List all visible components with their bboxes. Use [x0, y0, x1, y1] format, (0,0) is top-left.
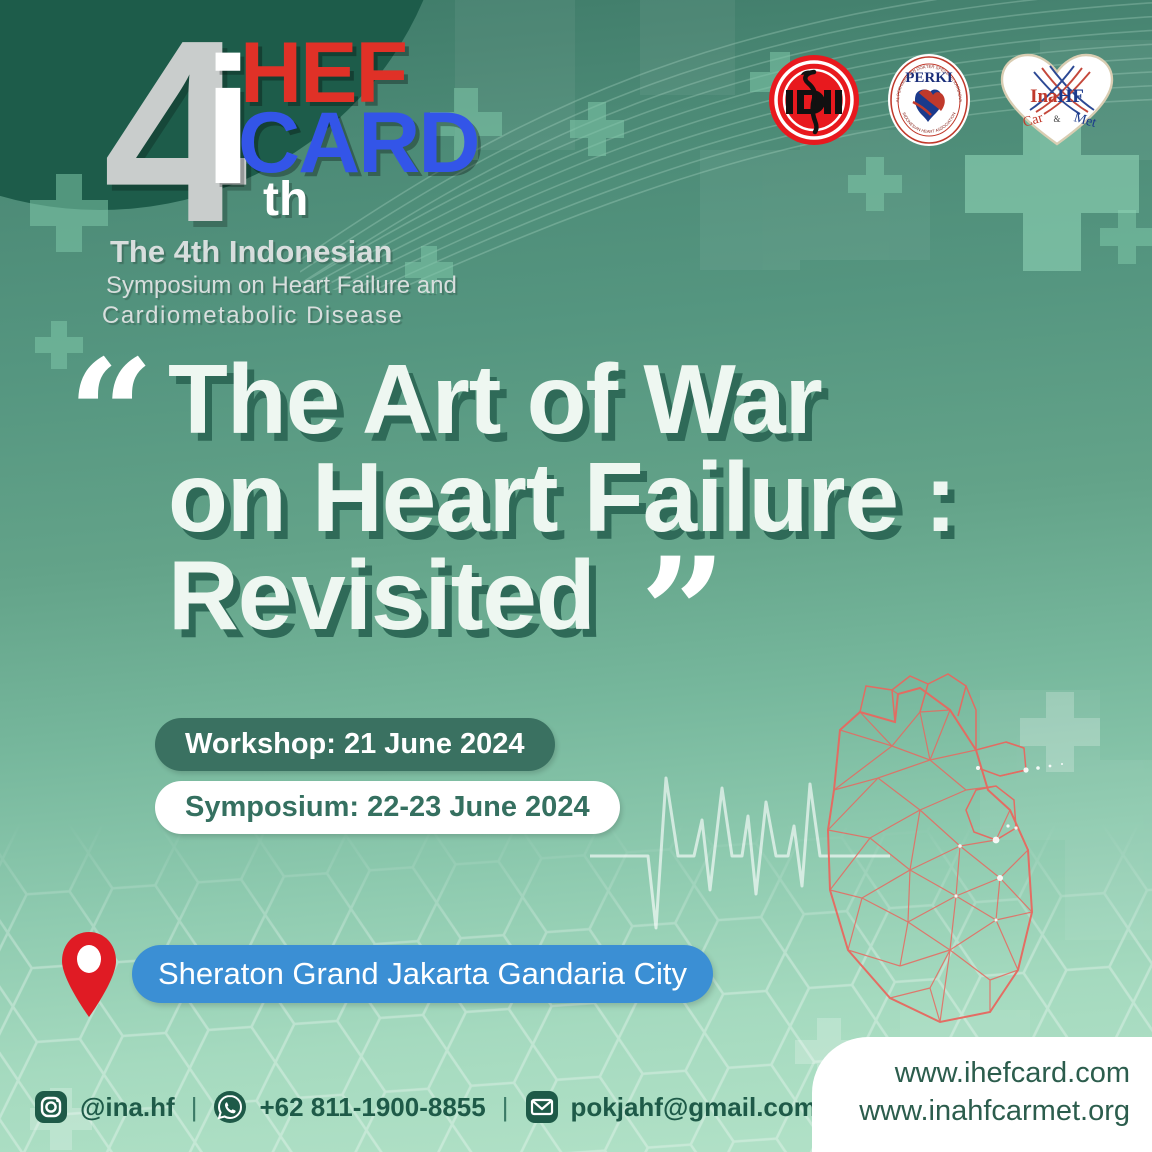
title-line-1: The Art of War	[168, 350, 956, 448]
email-icon[interactable]	[525, 1090, 559, 1124]
title-line-3: Revisited	[168, 546, 956, 644]
location-pin-icon	[58, 930, 120, 1018]
venue-name-badge: Sheraton Grand Jakarta Gandaria City	[132, 945, 713, 1003]
page-title: The Art of War on Heart Failure : Revisi…	[168, 350, 956, 644]
website-secondary[interactable]: www.inahfcarmet.org	[859, 1093, 1130, 1130]
svg-text:&: &	[1053, 114, 1060, 124]
website-card: www.ihefcard.com www.inahfcarmet.org	[812, 1037, 1152, 1152]
instagram-icon[interactable]	[34, 1090, 68, 1124]
event-logo-lockup: 4 i HEF CARD th The 4th Indonesian Sympo…	[48, 10, 468, 330]
subtitle-line-2: Symposium on Heart Failure and	[106, 272, 457, 300]
email-address[interactable]: pokjahf@gmail.com	[571, 1092, 817, 1123]
contact-bar: @ina.hf | +62 811-1900-8855 | pokjahf@gm…	[34, 1090, 817, 1124]
whatsapp-icon[interactable]	[213, 1090, 247, 1124]
title-line-2: on Heart Failure :	[168, 448, 956, 546]
instagram-handle[interactable]: @ina.hf	[80, 1092, 175, 1123]
website-primary[interactable]: www.ihefcard.com	[895, 1055, 1130, 1092]
venue-row: Sheraton Grand Jakarta Gandaria City	[58, 930, 713, 1018]
inahf-carmet-logo: InaHF Car & Met	[998, 52, 1116, 153]
workshop-date-badge: Workshop: 21 June 2024	[155, 718, 555, 771]
logo-ordinal-th: th	[263, 172, 308, 227]
low-poly-heart-illustration	[800, 650, 1100, 1040]
whatsapp-number[interactable]: +62 811-1900-8855	[259, 1092, 485, 1123]
perki-logo: PENGURUS NASIONAL PERHIMPUNAN DOKTER SPE…	[886, 52, 972, 153]
contact-separator-2: |	[502, 1092, 509, 1123]
date-badges: Workshop: 21 June 2024 Symposium: 22-23 …	[155, 718, 620, 834]
idi-logo	[768, 54, 860, 151]
partner-logo-group: PENGURUS NASIONAL PERHIMPUNAN DOKTER SPE…	[768, 52, 1116, 153]
quote-close-icon: ”	[640, 538, 726, 688]
quote-open-icon: “	[68, 340, 154, 490]
svg-text:PERKI: PERKI	[905, 70, 953, 86]
subtitle-line-3: Cardiometabolic Disease	[102, 302, 403, 330]
contact-separator-1: |	[191, 1092, 198, 1123]
event-poster: 4 i HEF CARD th The 4th Indonesian Sympo…	[0, 0, 1152, 1152]
symposium-date-badge: Symposium: 22-23 June 2024	[155, 781, 620, 834]
subtitle-line-1: The 4th Indonesian	[110, 234, 392, 270]
svg-text:InaHF: InaHF	[1030, 86, 1084, 107]
